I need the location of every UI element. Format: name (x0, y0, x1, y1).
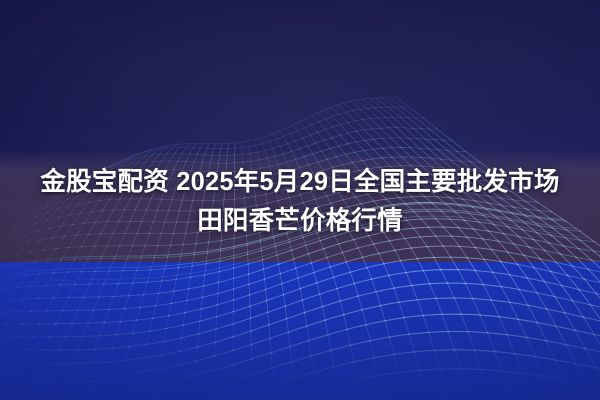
banner-image: 金股宝配资 2025年5月29日全国主要批发市场 田阳香芒价格行情 (0, 0, 600, 400)
page-title-line-1: 金股宝配资 2025年5月29日全国主要批发市场 (0, 163, 600, 202)
page-title: 金股宝配资 2025年5月29日全国主要批发市场 田阳香芒价格行情 (0, 163, 600, 241)
page-title-line-2: 田阳香芒价格行情 (0, 202, 600, 241)
